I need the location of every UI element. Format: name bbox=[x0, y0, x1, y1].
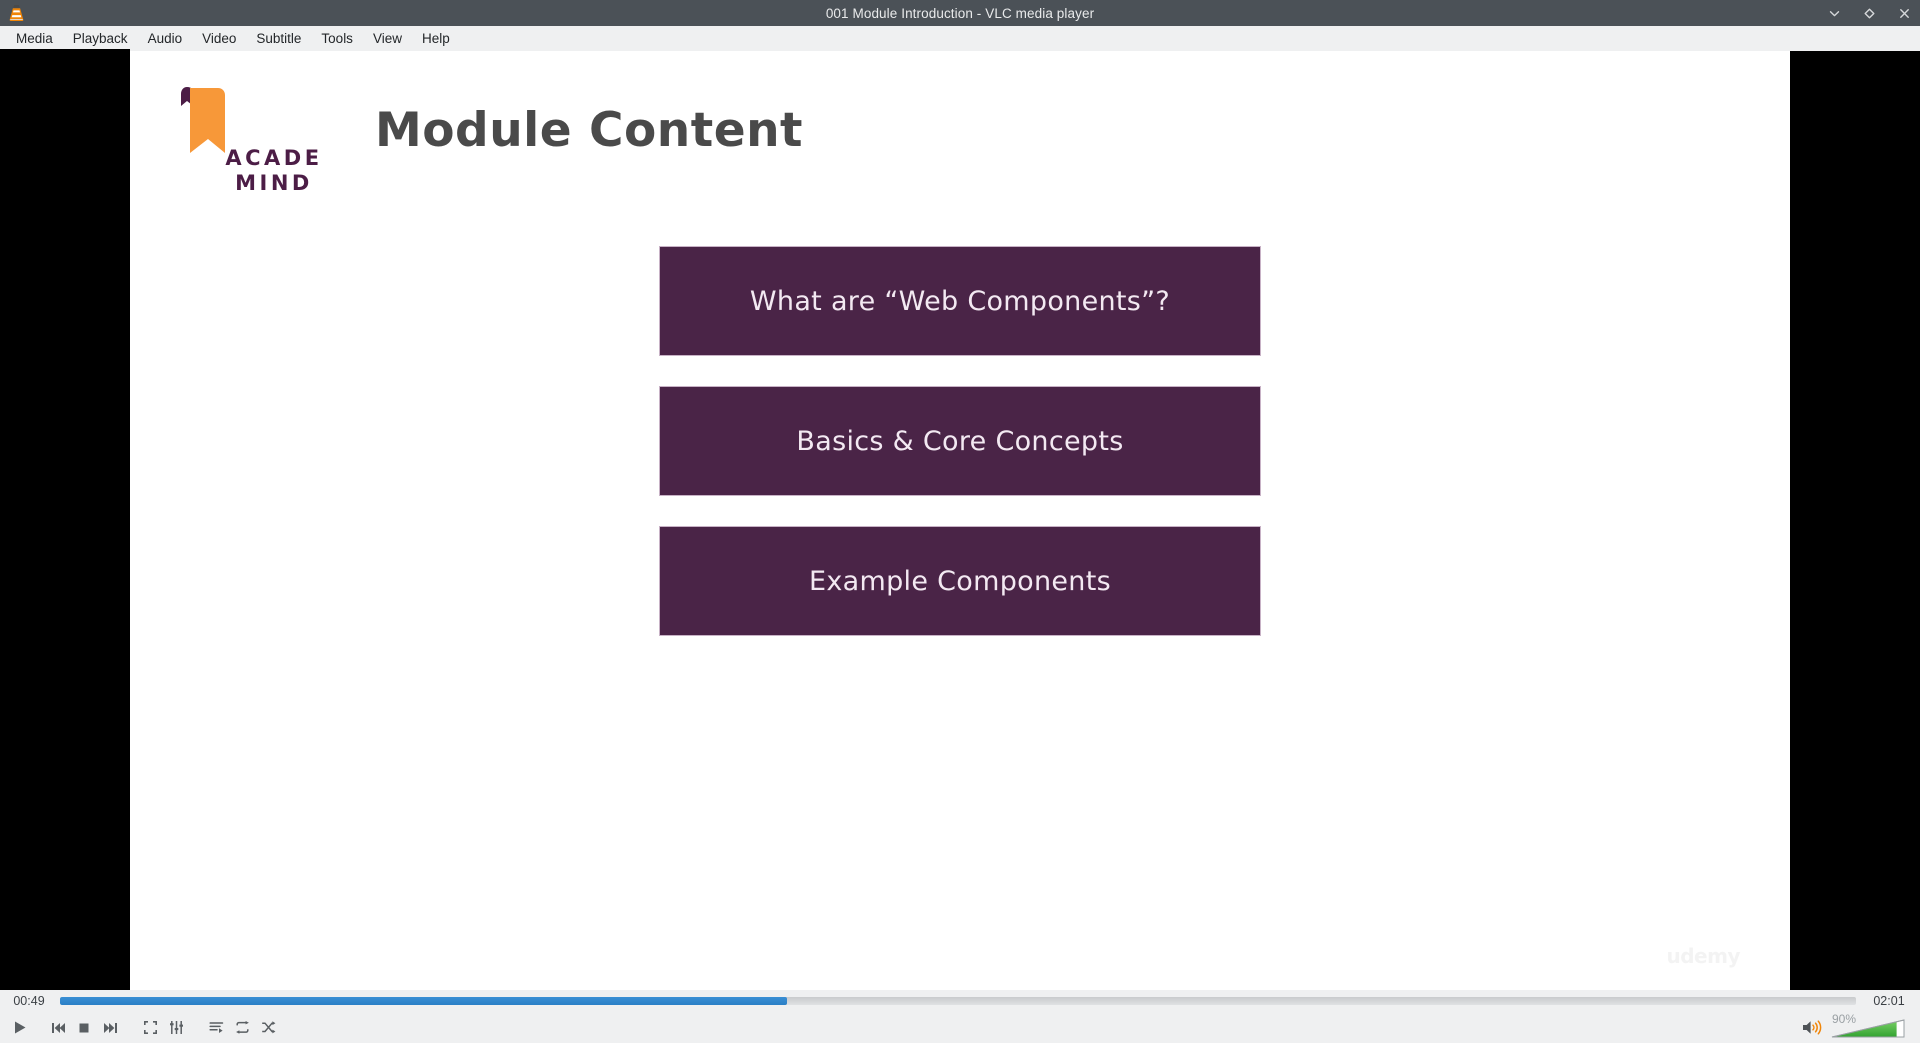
udemy-watermark: udemy bbox=[1667, 944, 1741, 968]
equalizer-icon bbox=[169, 1020, 184, 1035]
play-button[interactable] bbox=[5, 1015, 35, 1041]
volume-icon[interactable] bbox=[1800, 1017, 1824, 1039]
total-time[interactable]: 02:01 bbox=[1858, 994, 1920, 1008]
logo-line-2: MIND bbox=[194, 171, 354, 196]
content-box-label: Example Components bbox=[809, 566, 1111, 597]
seek-row: 00:49 02:01 bbox=[0, 990, 1920, 1012]
content-box-basics-core-concepts: Basics & Core Concepts bbox=[659, 386, 1261, 496]
content-box-label: What are “Web Components”? bbox=[750, 286, 1170, 317]
slide-canvas: ACADE MIND Module Content What are “Web … bbox=[130, 51, 1790, 990]
minimize-button[interactable] bbox=[1826, 5, 1842, 21]
vlc-cone-icon bbox=[3, 0, 29, 26]
menu-item-playback[interactable]: Playback bbox=[63, 28, 138, 49]
menu-item-view[interactable]: View bbox=[363, 28, 412, 49]
fullscreen-button[interactable] bbox=[137, 1016, 163, 1040]
skip-forward-icon bbox=[103, 1022, 118, 1034]
playlist-button[interactable] bbox=[203, 1016, 229, 1040]
menu-item-subtitle[interactable]: Subtitle bbox=[246, 28, 311, 49]
play-icon bbox=[13, 1020, 27, 1035]
next-button[interactable] bbox=[97, 1016, 123, 1040]
maximize-button[interactable] bbox=[1861, 5, 1877, 21]
slide-title: Module Content bbox=[375, 103, 803, 158]
stop-button[interactable] bbox=[71, 1016, 97, 1040]
volume-slider[interactable]: 90% bbox=[1830, 1016, 1906, 1040]
menu-item-tools[interactable]: Tools bbox=[311, 28, 363, 49]
logo-line-1: ACADE bbox=[225, 146, 322, 170]
content-box-web-components: What are “Web Components”? bbox=[659, 246, 1261, 356]
window-title: 001 Module Introduction - VLC media play… bbox=[0, 6, 1920, 21]
content-box-list: What are “Web Components”? Basics & Core… bbox=[130, 246, 1790, 636]
control-bar: 90% bbox=[0, 1012, 1920, 1043]
playlist-icon bbox=[209, 1021, 224, 1034]
content-box-label: Basics & Core Concepts bbox=[796, 426, 1123, 457]
stop-icon bbox=[78, 1022, 90, 1034]
volume-controls: 90% bbox=[1800, 1016, 1920, 1040]
transport-controls bbox=[0, 1015, 281, 1041]
title-bar: 001 Module Introduction - VLC media play… bbox=[0, 0, 1920, 26]
extended-settings-button[interactable] bbox=[163, 1016, 189, 1040]
vlc-window: 001 Module Introduction - VLC media play… bbox=[0, 0, 1920, 1043]
seek-progress-fill bbox=[60, 997, 787, 1005]
fullscreen-icon bbox=[143, 1020, 158, 1035]
academind-logo-text: ACADE MIND bbox=[194, 146, 354, 196]
shuffle-icon bbox=[261, 1021, 276, 1034]
loop-button[interactable] bbox=[229, 1016, 255, 1040]
academind-logo: ACADE MIND bbox=[172, 84, 352, 202]
menu-item-audio[interactable]: Audio bbox=[138, 28, 193, 49]
window-controls bbox=[1826, 0, 1912, 26]
previous-button[interactable] bbox=[45, 1016, 71, 1040]
menu-item-media[interactable]: Media bbox=[6, 28, 63, 49]
speaker-icon bbox=[1802, 1019, 1823, 1036]
skip-backward-icon bbox=[51, 1022, 66, 1034]
menu-bar: Media Playback Audio Video Subtitle Tool… bbox=[0, 26, 1920, 51]
video-area[interactable]: ACADE MIND Module Content What are “Web … bbox=[0, 51, 1920, 990]
seek-slider[interactable] bbox=[60, 997, 1856, 1005]
close-button[interactable] bbox=[1896, 5, 1912, 21]
menu-item-help[interactable]: Help bbox=[412, 28, 460, 49]
content-box-example-components: Example Components bbox=[659, 526, 1261, 636]
menu-item-video[interactable]: Video bbox=[192, 28, 246, 49]
loop-icon bbox=[235, 1021, 250, 1034]
volume-slider-track bbox=[1830, 1019, 1906, 1038]
shuffle-button[interactable] bbox=[255, 1016, 281, 1040]
elapsed-time[interactable]: 00:49 bbox=[0, 994, 58, 1008]
